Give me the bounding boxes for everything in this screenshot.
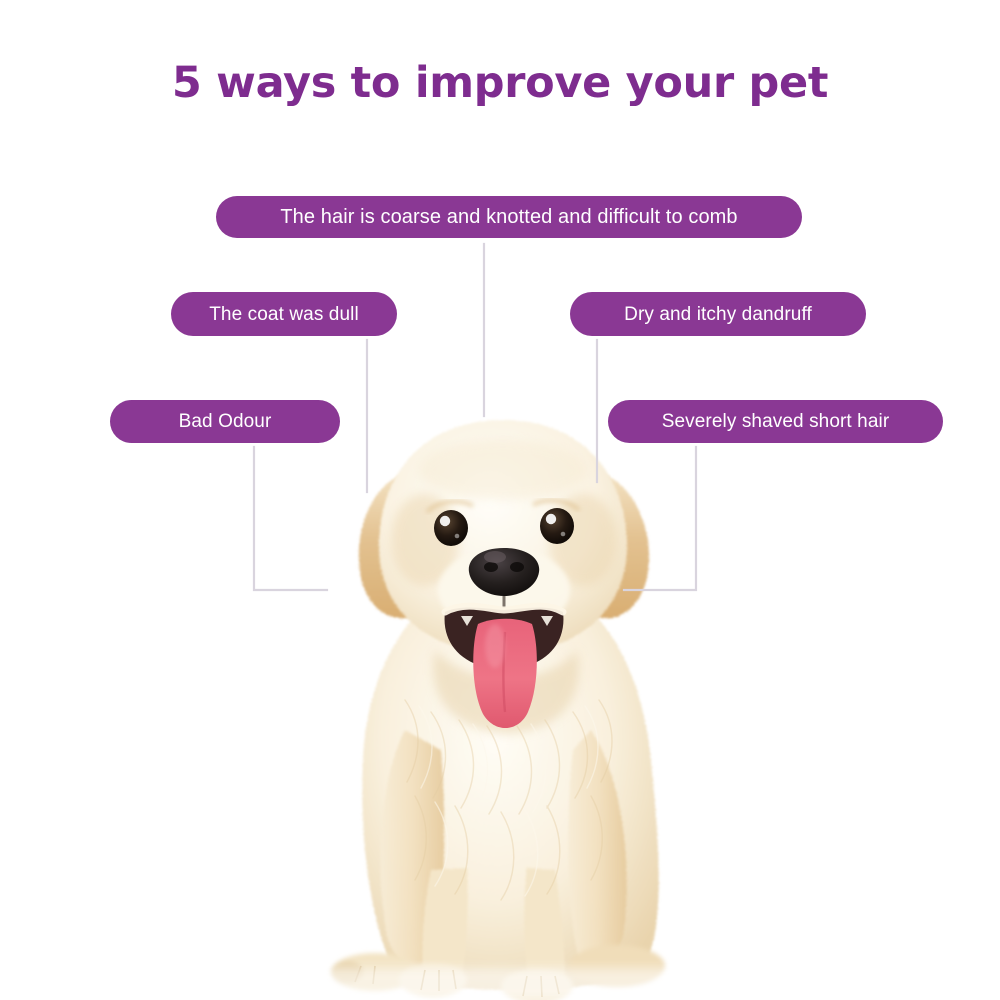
callout-dull-coat[interactable]: The coat was dull — [171, 292, 397, 336]
callout-coarse-knotted-hair[interactable]: The hair is coarse and knotted and diffi… — [216, 196, 802, 238]
page-title: 5 ways to improve your pet — [0, 58, 1000, 108]
infographic-canvas: 5 ways to improve your pet — [0, 0, 1000, 1000]
callout-bad-odour[interactable]: Bad Odour — [110, 400, 340, 443]
puppy-photo — [255, 400, 755, 1000]
callout-dry-itchy-dandruff[interactable]: Dry and itchy dandruff — [570, 292, 866, 336]
callout-severely-shaved-short-hair[interactable]: Severely shaved short hair — [608, 400, 943, 443]
